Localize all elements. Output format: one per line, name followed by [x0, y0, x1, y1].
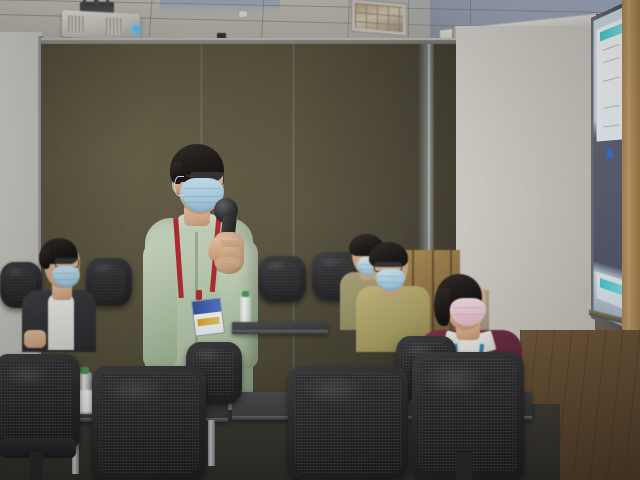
slide-blue-mark — [607, 149, 613, 159]
woman-hair-side — [434, 288, 450, 326]
cabinet-panel-divider — [432, 250, 434, 336]
chair-highlight — [103, 375, 166, 405]
speaker-mask-earloop — [174, 176, 184, 196]
ceiling-tile-seam — [470, 0, 471, 28]
chair-highlight — [3, 362, 50, 387]
speaker-lanyard-joint — [196, 290, 202, 300]
bottle-cap — [80, 367, 89, 374]
speaker-finger — [217, 260, 241, 267]
badge-header-band — [192, 298, 221, 314]
slide-document — [597, 18, 625, 142]
chair-highlight — [4, 266, 27, 278]
projector-ceiling-rod — [95, 0, 99, 6]
light-louvers — [355, 3, 403, 32]
slide-rule — [603, 44, 619, 51]
chair-highlight — [263, 260, 289, 272]
attendee-left-hair-side — [39, 249, 50, 269]
slide-rule — [603, 57, 619, 63]
projector-arm — [83, 0, 86, 5]
meeting-room-photo — [0, 0, 640, 480]
projector-vent — [106, 17, 122, 35]
attendee-left-arm — [24, 330, 46, 348]
slide-header-band — [600, 23, 623, 42]
badge-name-text — [197, 316, 220, 326]
projector-arm — [106, 0, 109, 5]
slide-rule — [603, 105, 619, 109]
projector — [62, 10, 140, 41]
speaker-sleeve-left — [143, 240, 177, 368]
table-edge — [232, 330, 328, 334]
slide-rule — [603, 77, 619, 82]
speaker-glasses-bridge — [186, 175, 192, 177]
chair-highlight — [300, 375, 366, 405]
ceiling-sensor-icon — [238, 10, 248, 18]
chair[interactable] — [258, 256, 306, 302]
chair-post — [30, 452, 43, 480]
slide-rule — [603, 124, 619, 127]
ceiling-light-fixture — [351, 0, 407, 36]
chair-post — [456, 452, 472, 480]
attendee-left-shirt — [48, 294, 74, 350]
chair[interactable] — [288, 366, 408, 480]
slide-footer-band — [600, 278, 623, 296]
table-mid — [232, 322, 328, 334]
speaker-name-badge — [191, 297, 225, 336]
chair-highlight — [423, 362, 485, 395]
projector-power-led-icon — [133, 26, 140, 33]
slide-footer-block — [597, 272, 625, 310]
chair[interactable] — [92, 366, 206, 480]
table-leg — [208, 420, 215, 466]
projector-vent — [68, 15, 84, 33]
